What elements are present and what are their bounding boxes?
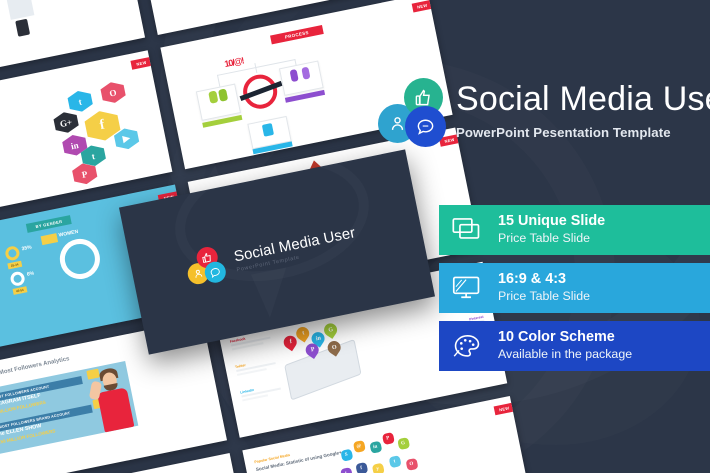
age-label-1: 25-34 bbox=[7, 261, 22, 270]
age-pct-3: 6% bbox=[26, 270, 34, 277]
feature-heading: 16:9 & 4:3 bbox=[498, 271, 590, 288]
tree-icon-6: f bbox=[355, 462, 368, 473]
feature-list: 15 Unique Slide Price Table Slide 16:9 &… bbox=[439, 205, 710, 379]
page-subtitle: PowerPoint Pesentation Template bbox=[456, 125, 710, 140]
social-hex-cluster: f t O G+ in t ▶ P bbox=[47, 73, 154, 176]
age-pct-1: 35% bbox=[21, 244, 32, 252]
feature-sub: Price Table Slide bbox=[498, 231, 605, 247]
preview-card-icons bbox=[181, 244, 230, 292]
palette-icon bbox=[452, 333, 498, 359]
googleplus-hex-icon: G+ bbox=[52, 110, 80, 135]
tree-icon-0: S bbox=[340, 449, 353, 462]
feature-aspect-ratio[interactable]: 16:9 & 4:3 Price Table Slide bbox=[439, 263, 710, 313]
page-title: Social Media User bbox=[456, 82, 710, 116]
tree-icon-1: @ bbox=[352, 440, 365, 453]
slides-stack-icon bbox=[452, 217, 498, 243]
gender-label: WOMEN bbox=[58, 229, 79, 239]
feature-color-scheme[interactable]: 10 Color Scheme Available in the package bbox=[439, 321, 710, 371]
instagram-hex-icon: O bbox=[99, 80, 127, 105]
tree-icon-8: t bbox=[388, 455, 401, 468]
tablet-illustration bbox=[284, 339, 361, 401]
thumbnail-tag: NEW bbox=[131, 56, 155, 69]
tree-icon-4: G bbox=[397, 437, 410, 450]
chat-bubble-icon bbox=[405, 106, 446, 147]
feature-heading: 15 Unique Slide bbox=[498, 213, 605, 230]
hero-block: Social Media User PowerPoint Pesentation… bbox=[378, 78, 452, 148]
thumbnail-ribbon: PROCESS bbox=[270, 25, 323, 44]
tree-icon-3: P bbox=[381, 432, 394, 445]
feature-unique-slides[interactable]: 15 Unique Slide Price Table Slide bbox=[439, 205, 710, 255]
feature-sub: Available in the package bbox=[498, 347, 632, 363]
tree-icon-5: t bbox=[340, 467, 353, 473]
tree-icon-7: y bbox=[371, 463, 384, 473]
feature-heading: 10 Color Scheme bbox=[498, 329, 632, 346]
monitor-icon bbox=[452, 275, 498, 301]
hero-logo bbox=[378, 78, 452, 148]
tree-icon-9: O bbox=[405, 458, 418, 471]
feature-sub: Price Table Slide bbox=[498, 289, 590, 305]
tree-icon-2: in bbox=[369, 441, 382, 454]
age-label-3: 45-54 bbox=[13, 286, 28, 295]
twitter-hex-icon: t bbox=[66, 89, 94, 114]
